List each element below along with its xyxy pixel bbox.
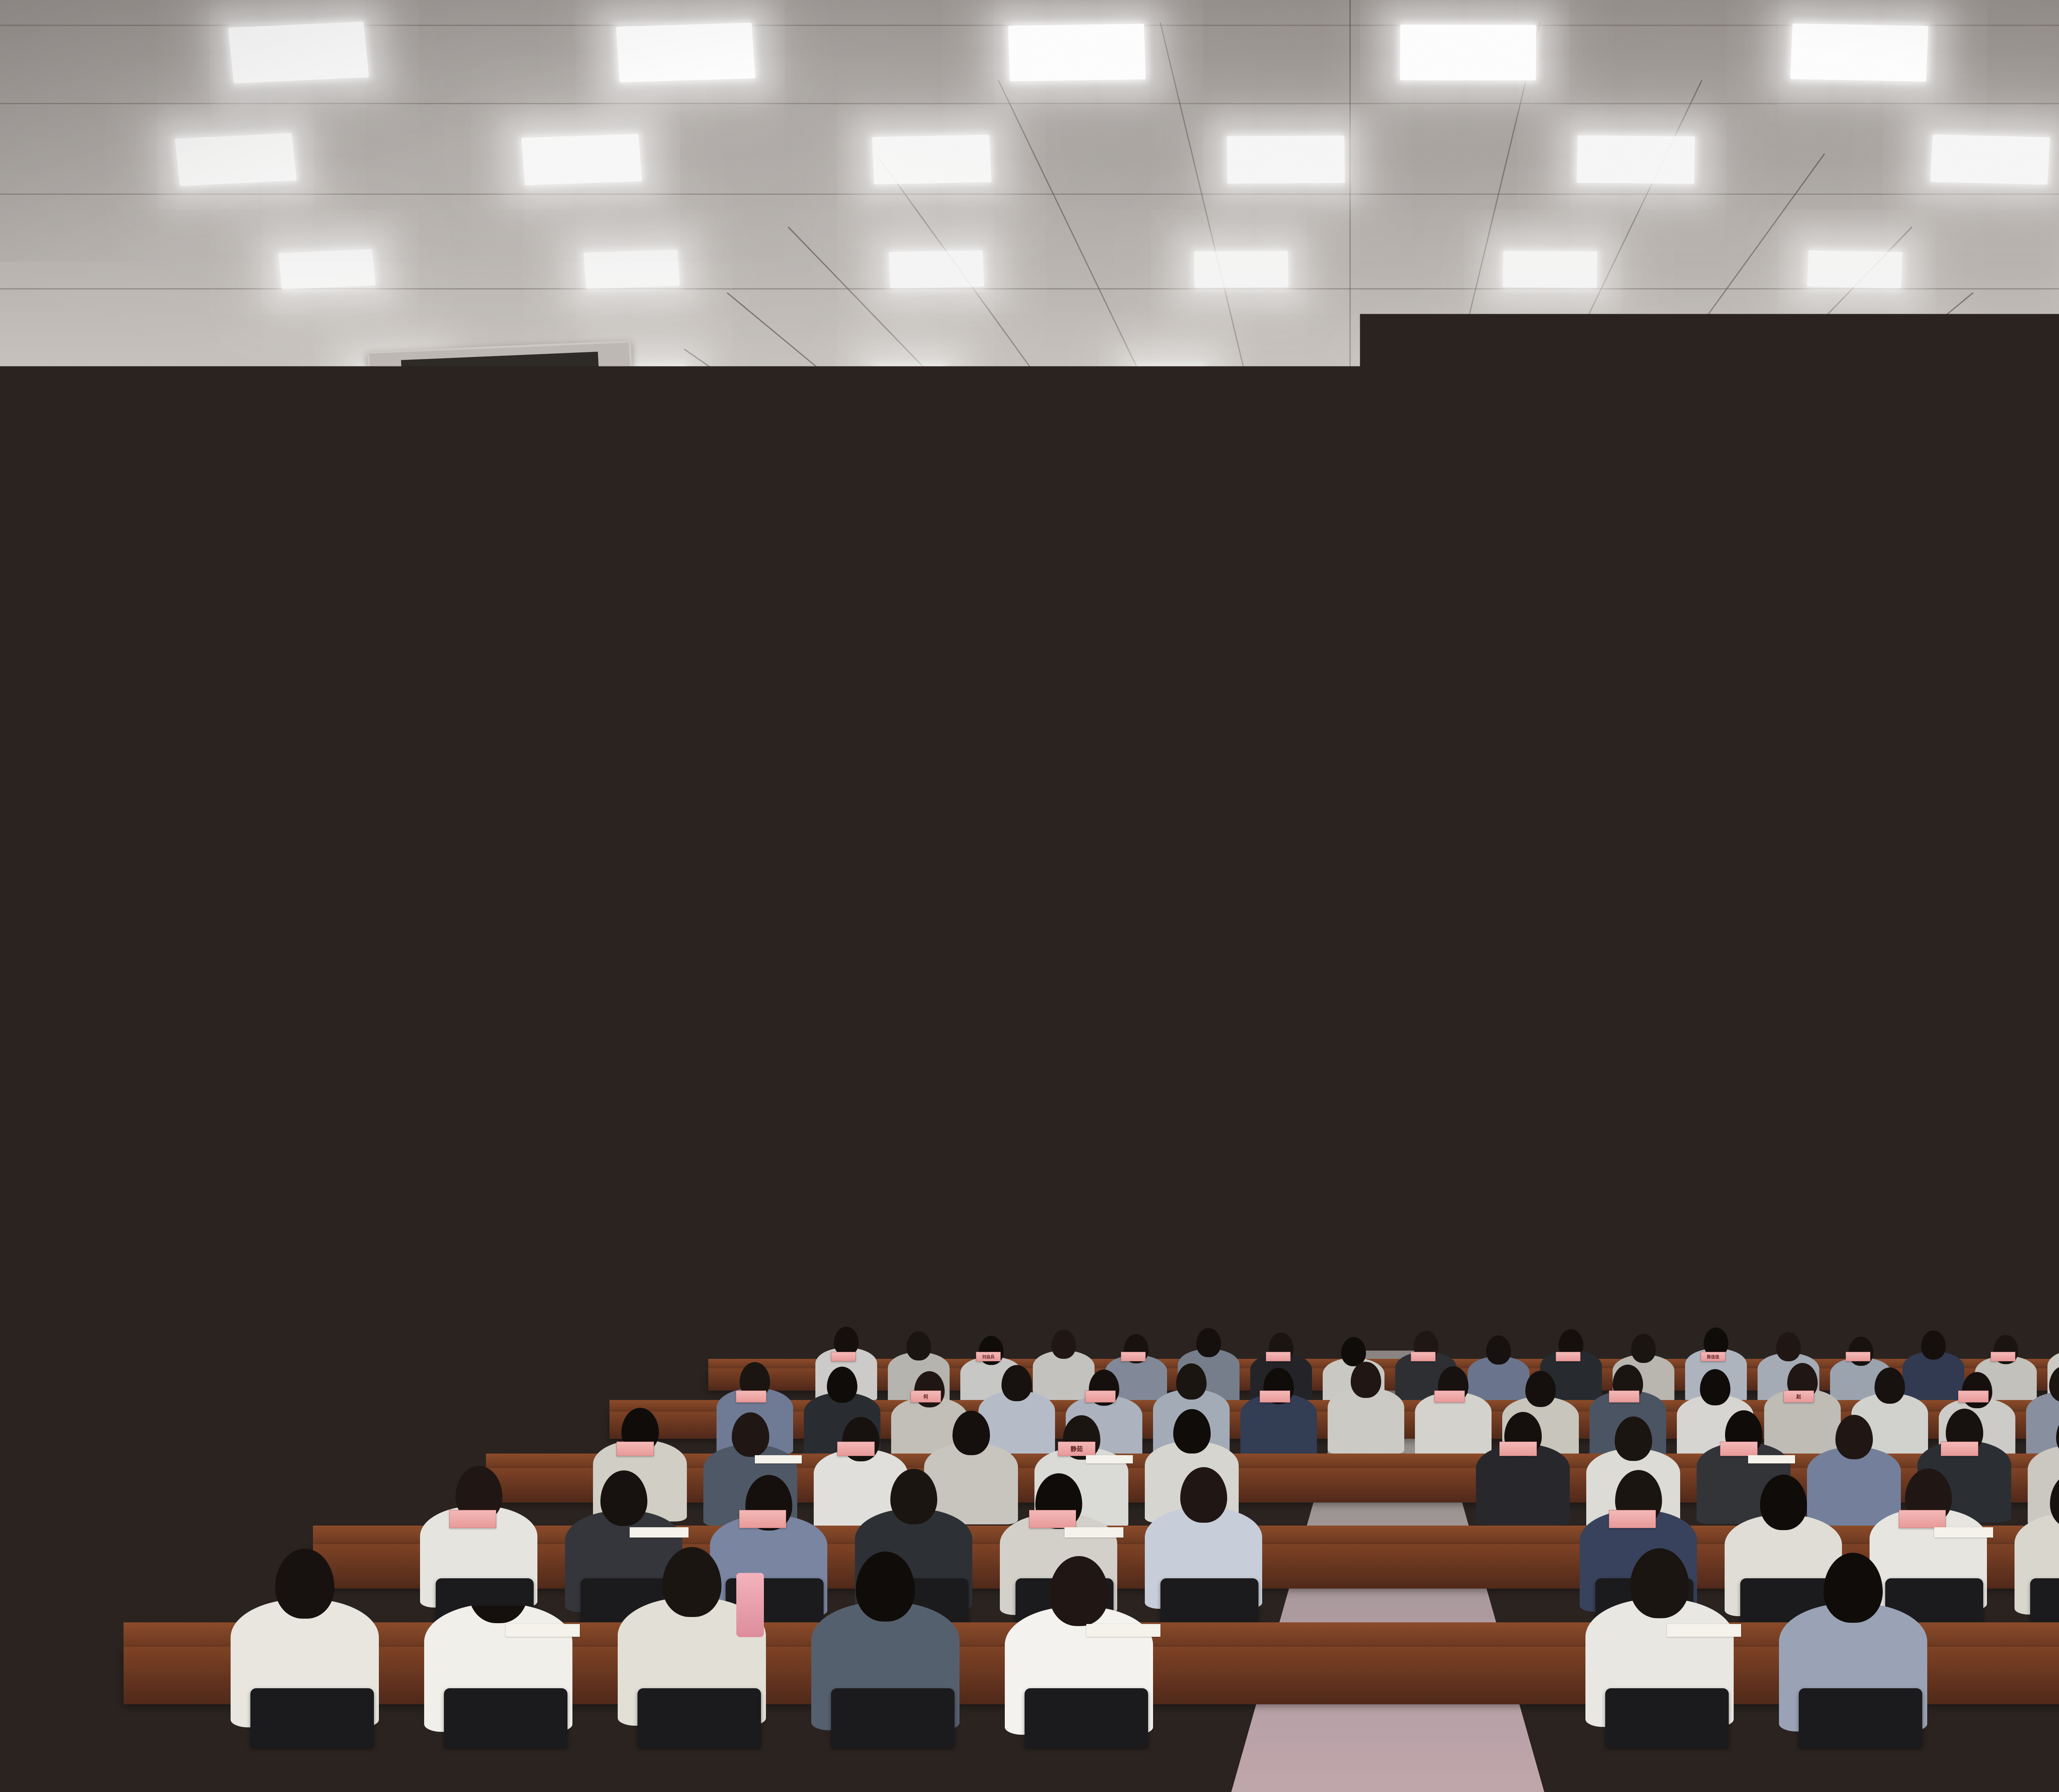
person-head xyxy=(275,1549,334,1619)
audience-chair xyxy=(1160,1578,1258,1625)
university-name-en: ANHUI UNIVERSITY OF CHINESE MEDICINE xyxy=(1123,930,1375,943)
audience-document xyxy=(755,1455,802,1463)
lattice-cell xyxy=(206,922,280,972)
university-name-cn: 安徽中医药大学 xyxy=(1123,890,1394,926)
person-head xyxy=(732,1412,769,1457)
ceiling-led-panel xyxy=(228,21,369,83)
audience-name-card xyxy=(1958,1391,1989,1402)
ceiling-led-panel xyxy=(877,366,946,392)
ceiling-grid-line xyxy=(0,194,2059,195)
person-head xyxy=(1921,1330,1946,1360)
audience-document xyxy=(1086,1624,1160,1637)
led-display-screen: ✦✦✦✦✦✦✦✦✦✦✦✦✦✦✦✦✦✦ 安徽中医药大学 ANHUI UNIVERS… xyxy=(1038,859,1631,1157)
person-head xyxy=(827,1367,857,1403)
ceiling-led-panel xyxy=(1790,23,1928,82)
ceiling-led-panel xyxy=(1194,251,1288,287)
person-head xyxy=(1196,1328,1221,1357)
person-head xyxy=(1049,1556,1109,1626)
ceiling-led-panel xyxy=(1655,366,1724,392)
head-table-name-card xyxy=(1135,1257,1184,1274)
ceiling-ac-unit xyxy=(1227,589,1351,651)
audience-name-card: 何 xyxy=(910,1391,941,1402)
lattice-cell xyxy=(391,922,465,972)
ceiling-led-panel xyxy=(278,249,376,289)
lattice-cell xyxy=(428,1017,519,1141)
screen-title-line-2: 巡察针灸推拿学院党委工作动员会 xyxy=(1044,1001,1625,1037)
ceiling-led-panel xyxy=(1540,469,1590,488)
audience-document xyxy=(1086,1455,1133,1463)
person-head xyxy=(1849,1337,1873,1366)
ceiling-ac-unit xyxy=(1916,325,2059,474)
pilaster-left-outer xyxy=(0,614,86,1416)
ceiling-ac-unit xyxy=(367,341,638,488)
conference-room-photo: ✦✦✦✦✦✦✦✦✦✦✦✦✦✦✦✦✦✦ 安徽中医药大学 ANHUI UNIVERS… xyxy=(0,0,2059,1792)
ceiling-led-panel xyxy=(1758,469,1808,488)
person-head xyxy=(1351,1362,1381,1398)
ceiling-led-panel xyxy=(1807,250,1902,288)
person-head xyxy=(662,1547,721,1617)
university-emblem-icon xyxy=(1065,888,1114,945)
audience-name-card xyxy=(616,1442,654,1456)
lattice-cell xyxy=(243,1017,334,1141)
audience-name-card: 陈佳佳 xyxy=(1701,1352,1725,1361)
audience-name-card xyxy=(1609,1510,1656,1528)
person-head xyxy=(856,1552,915,1622)
screen-star: ✦ xyxy=(1561,922,1565,927)
person-face xyxy=(1685,1192,1718,1217)
person-head xyxy=(1776,1332,1801,1361)
ceiling-led-panel xyxy=(667,469,717,488)
lectern-laptop[interactable] xyxy=(708,1149,803,1194)
audience-name-card xyxy=(1846,1352,1870,1361)
lectern-emblem-icon xyxy=(725,1264,773,1313)
ceiling-grid-line xyxy=(0,576,2059,578)
ceiling-led-panel xyxy=(1930,135,2050,185)
person-head xyxy=(1525,1371,1556,1407)
person-head xyxy=(1051,1330,1076,1359)
person-head xyxy=(600,1470,647,1526)
ceiling-led-panel xyxy=(521,134,642,185)
audience-document xyxy=(506,1624,580,1637)
audience-name-card xyxy=(1260,1391,1290,1402)
head-table-cup xyxy=(1728,1254,1739,1268)
ceiling-led-panel xyxy=(1104,469,1153,488)
screen-date: 2022年9月20日 xyxy=(1044,1059,1625,1084)
audience-name-card: 赵 xyxy=(1784,1391,1814,1402)
ceiling-grid-line xyxy=(0,486,2059,487)
audience-name-card xyxy=(1085,1391,1116,1402)
ceiling-led-panel xyxy=(1136,366,1205,392)
person-head xyxy=(1875,1367,1905,1404)
foreground-desk xyxy=(0,1664,2059,1792)
ceiling-led-panel xyxy=(584,250,680,289)
head-table-name-card xyxy=(1538,1257,1588,1274)
ceiling-led-panel xyxy=(1503,251,1597,287)
person-face xyxy=(1277,1192,1310,1217)
person-face xyxy=(1409,1192,1442,1217)
ceiling-led-panel xyxy=(1008,24,1146,82)
audience-name-card xyxy=(1121,1352,1146,1361)
audience-name-card xyxy=(1991,1352,2015,1361)
audience-name-card xyxy=(1899,1510,1946,1528)
person-face xyxy=(1553,1192,1586,1217)
person-head xyxy=(1823,1553,1883,1623)
person-head xyxy=(1700,1369,1730,1405)
audience-name-card: 刘自兵 xyxy=(976,1352,1001,1361)
person-head xyxy=(906,1331,931,1360)
person-head xyxy=(1176,1363,1207,1400)
head-table-name-card xyxy=(1263,1257,1312,1274)
audience-name-card xyxy=(736,1391,766,1402)
lattice-circle xyxy=(259,1161,317,1219)
audience-document xyxy=(1934,1527,1993,1538)
lattice-circle xyxy=(445,1161,502,1219)
ceiling-led-panel xyxy=(616,23,755,82)
audience-name-card xyxy=(831,1352,856,1361)
person-head xyxy=(1962,1372,1992,1408)
audience-name-card xyxy=(1499,1442,1537,1456)
audience-document xyxy=(630,1527,689,1538)
person-head xyxy=(890,1469,937,1524)
head-table-name-card xyxy=(1394,1257,1444,1274)
ceiling-led-panel xyxy=(1396,366,1464,392)
audience-name-card xyxy=(1556,1352,1580,1361)
person-head xyxy=(1835,1415,1873,1459)
screen-star: ✦ xyxy=(1509,1095,1513,1099)
ceiling-led-panel xyxy=(1227,135,1345,183)
head-table-cup xyxy=(1193,1254,1203,1268)
audience-name-card xyxy=(739,1510,786,1528)
person-head xyxy=(1760,1475,1807,1530)
person-head xyxy=(1631,1334,1656,1363)
ceiling-grid-line xyxy=(0,387,2059,388)
screen-star: ✦ xyxy=(1485,1129,1489,1134)
head-table-cup xyxy=(1452,1254,1463,1268)
lattice-cell xyxy=(296,922,371,972)
audience-name-card xyxy=(1266,1352,1291,1361)
person-head xyxy=(1001,1365,1032,1401)
led-screen-surface: ✦✦✦✦✦✦✦✦✦✦✦✦✦✦✦✦✦✦ 安徽中医药大学 ANHUI UNIVERS… xyxy=(1044,865,1625,1152)
person-head xyxy=(952,1411,990,1455)
screen-star: ✦ xyxy=(1584,1043,1591,1051)
lattice-cell xyxy=(482,922,556,972)
ceiling-led-panel xyxy=(872,135,992,184)
ceiling-grid-line xyxy=(1349,0,1351,807)
person-head xyxy=(469,1553,528,1623)
audience-name-card xyxy=(837,1442,875,1456)
audience-document xyxy=(1065,1527,1123,1538)
audience-name-card xyxy=(1609,1391,1639,1402)
pilaster-stage-right xyxy=(1845,725,1898,1314)
ceiling-led-panel xyxy=(1577,135,1695,184)
person-head xyxy=(1486,1335,1511,1365)
ceiling-grid-line xyxy=(0,103,2059,104)
screen-title-line-1: 学校党委第二巡察组 xyxy=(1044,957,1625,992)
wall-speaker-left xyxy=(70,861,194,1029)
audience-name-card xyxy=(1720,1442,1758,1456)
person-head xyxy=(1173,1409,1211,1454)
audience-name-card xyxy=(449,1510,496,1528)
head-table-name-card xyxy=(1670,1257,1720,1274)
person-face xyxy=(1150,1192,1183,1217)
ceiling-led-panel xyxy=(889,250,984,288)
audience-water-bottle xyxy=(736,1573,764,1637)
audience-document xyxy=(1748,1455,1795,1463)
audience-name-card xyxy=(1411,1352,1436,1361)
audience-name-card xyxy=(1434,1391,1465,1402)
person-head xyxy=(1180,1467,1227,1523)
lattice-cell xyxy=(247,1239,329,1334)
screen-logo-row: 安徽中医药大学 ANHUI UNIVERSITY OF CHINESE MEDI… xyxy=(1065,888,1394,945)
audience-person xyxy=(1476,1412,1570,1538)
audience-person xyxy=(1328,1362,1404,1464)
screen-star: ✦ xyxy=(1578,1106,1583,1111)
person-head xyxy=(1630,1548,1689,1618)
ceiling-led-panel xyxy=(175,133,297,186)
screen-star: ✦ xyxy=(1427,1037,1430,1041)
head-table-cup xyxy=(1596,1254,1607,1268)
ceiling-led-panel xyxy=(885,469,935,488)
audience-name-card xyxy=(1941,1442,1978,1456)
audience-chair xyxy=(2030,1578,2059,1625)
person-head xyxy=(1615,1416,1652,1461)
audience-name-card: 静茹 xyxy=(1058,1442,1095,1456)
head-table-cup xyxy=(1320,1254,1331,1268)
audience-name-card xyxy=(1029,1510,1076,1528)
screen-star: ✦ xyxy=(1532,1118,1537,1123)
ceiling-led-panel xyxy=(1400,25,1536,81)
ceiling-led-panel xyxy=(1322,469,1371,488)
